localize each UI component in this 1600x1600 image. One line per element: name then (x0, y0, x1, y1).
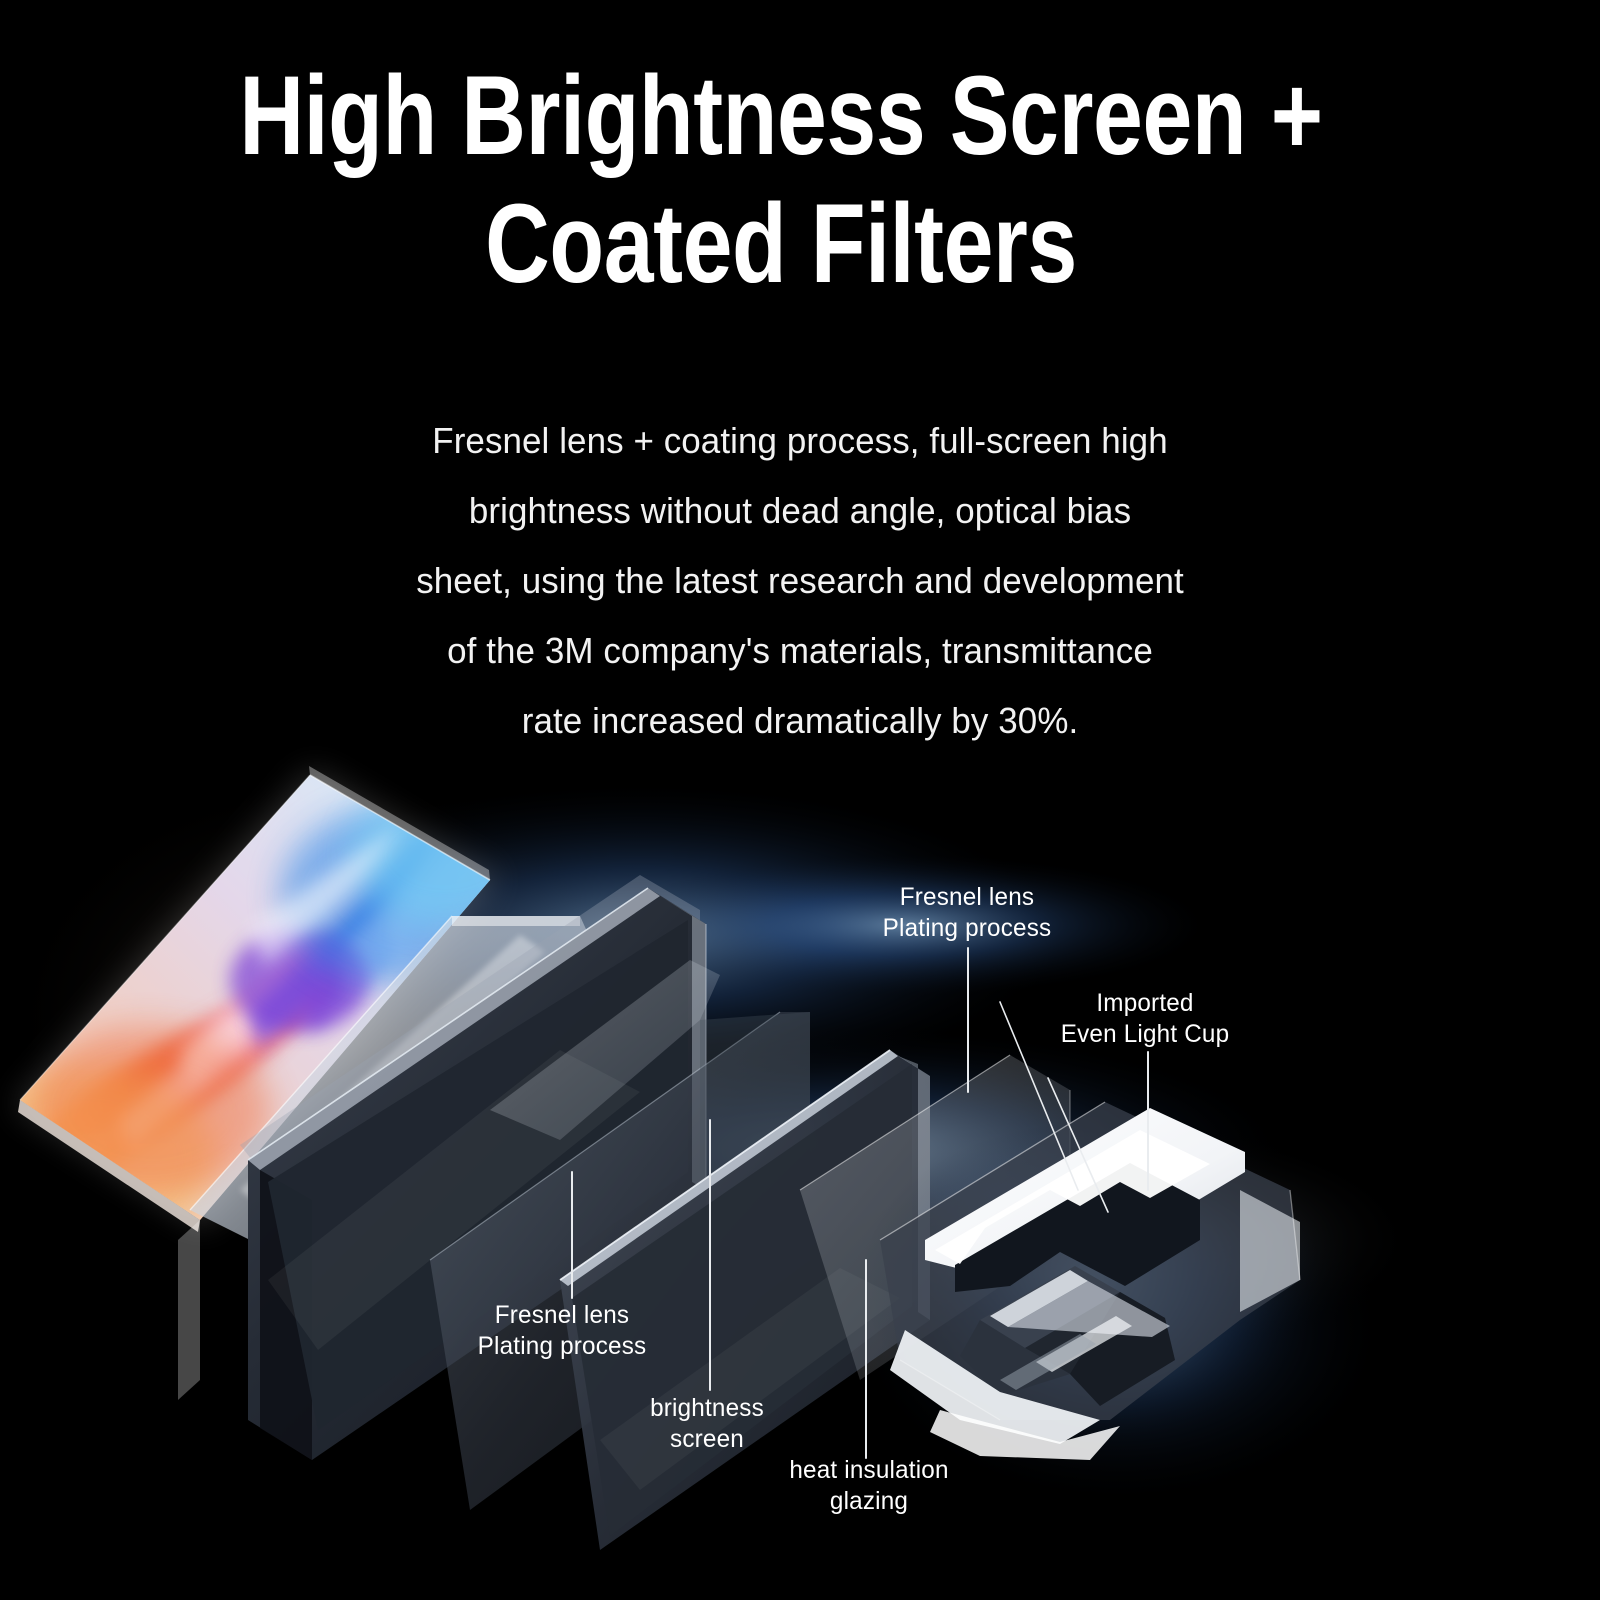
label-brightness-line-1: brightness (564, 1393, 849, 1424)
description-line-4: of the 3M company's materials, transmitt… (24, 616, 1576, 686)
description-line-1: Fresnel lens + coating process, full-scr… (24, 406, 1576, 476)
label-fresnel-bottom-line-1: Fresnel lens (381, 1300, 744, 1331)
label-even-light-line-1: Imported (956, 988, 1334, 1019)
label-heat-line-2: glazing (715, 1486, 1023, 1517)
label-fresnel-top-line-2: Plating process (786, 913, 1149, 944)
label-fresnel-top-line-1: Fresnel lens (786, 882, 1149, 913)
label-fresnel-lens-plating-bottom: Fresnel lens Plating process (381, 1300, 744, 1362)
description-line-3: sheet, using the latest research and dev… (24, 546, 1576, 616)
label-even-light-line-2: Even Light Cup (956, 1019, 1334, 1050)
label-fresnel-bottom-line-2: Plating process (381, 1331, 744, 1362)
label-heat-insulation-glazing: heat insulation glazing (715, 1455, 1023, 1517)
label-fresnel-lens-plating-top: Fresnel lens Plating process (786, 882, 1149, 944)
page-root: High Brightness Screen + Coated Filters … (0, 0, 1600, 1600)
label-brightness-screen: brightness screen (564, 1393, 849, 1455)
title-line-2: Coated Filters (156, 180, 1406, 308)
description-line-2: brightness without dead angle, optical b… (24, 476, 1576, 546)
label-brightness-line-2: screen (564, 1424, 849, 1455)
page-title: High Brightness Screen + Coated Filters (0, 52, 1600, 308)
label-imported-even-light-cup: Imported Even Light Cup (956, 988, 1334, 1050)
label-heat-line-1: heat insulation (715, 1455, 1023, 1486)
title-line-1: High Brightness Screen + (156, 52, 1406, 180)
description-paragraph: Fresnel lens + coating process, full-scr… (0, 406, 1600, 756)
